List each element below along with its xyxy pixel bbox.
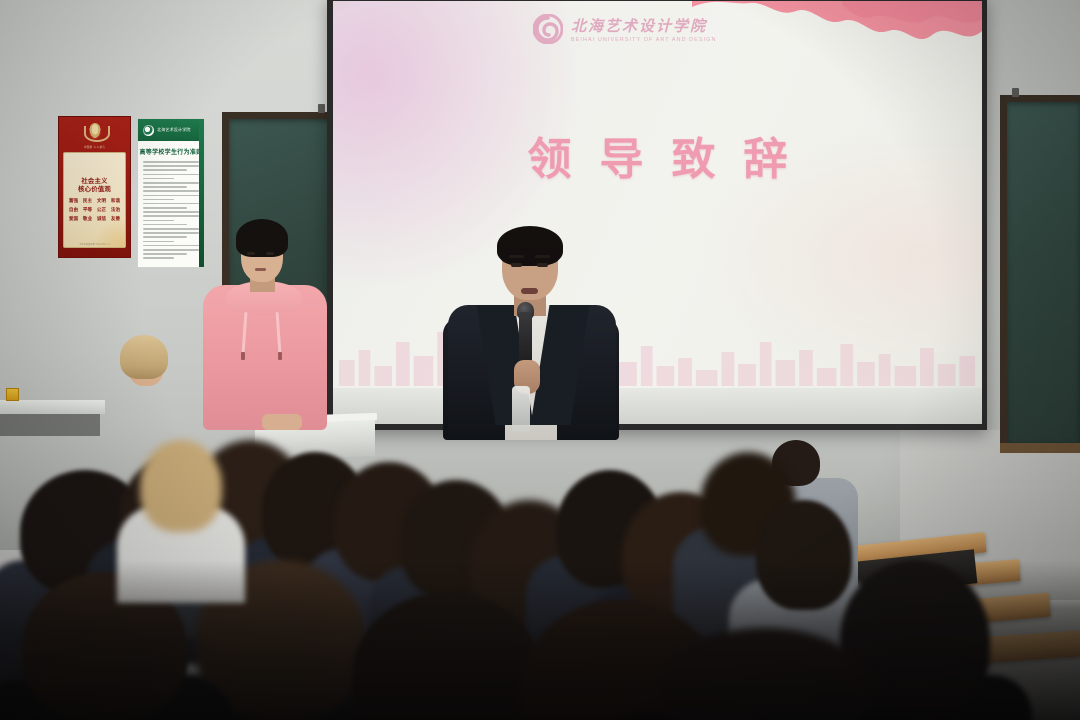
pink-hoodie-hair: [236, 219, 288, 257]
mouth: [521, 288, 538, 294]
yellow-notice-sign: [6, 388, 19, 401]
hand: [262, 414, 302, 430]
poster-value: 诚信: [96, 216, 108, 222]
poster-value: 自由: [68, 207, 80, 213]
eye: [266, 252, 274, 255]
slide-school-logo: 北海艺术设计学院 BEIHAI UNIVERSITY OF ART AND DE…: [533, 9, 803, 49]
poster-header: 北海艺术设计学院: [138, 119, 204, 141]
eye: [247, 252, 255, 255]
mouth: [255, 268, 266, 271]
poster-value: 公正: [96, 207, 108, 213]
projection-screen: 北海艺术设计学院 BEIHAI UNIVERSITY OF ART AND DE…: [333, 1, 982, 424]
drawstring-tip: [278, 352, 282, 360]
slide-skyline-graphic: [333, 316, 982, 386]
poster-socialist-core-values: 中国梦 人人参与 社会主义 核心价值观 富强 民主 文明 和谐 自由 平等 公正…: [58, 116, 131, 258]
audience-head: [140, 440, 222, 532]
audience-head: [756, 500, 852, 610]
poster-values-row: 自由 平等 公正 法治: [68, 207, 122, 213]
slide-logo-chinese: 北海艺术设计学院: [571, 15, 716, 36]
speaker-hair: [497, 226, 563, 266]
blonde-student-hair: [120, 335, 168, 379]
eyebrow: [535, 255, 550, 258]
emblem-icon: [82, 123, 108, 145]
school-logo-icon: [143, 125, 154, 136]
poster-values-row: 富强 民主 文明 和谐: [68, 198, 122, 204]
poster-value: 民主: [82, 198, 94, 204]
chalkboard-right: [1000, 95, 1080, 450]
shelf-shadow: [0, 414, 100, 436]
poster-side-stripe: [199, 119, 204, 267]
chalkboard-tray: [1000, 443, 1080, 453]
swirl-logo-mark-icon: [533, 14, 563, 44]
poster-value: 敬业: [82, 216, 94, 222]
poster-inner-card: 社会主义 核心价值观 富强 民主 文明 和谐 自由 平等 公正 法治 爱国 敬业: [63, 152, 126, 248]
poster-value: 法治: [110, 207, 122, 213]
board-clip-icon: [318, 104, 325, 113]
poster-value: 友善: [110, 216, 122, 222]
poster-value: 富强: [68, 198, 80, 204]
poster-title: 高等学校学生行为准则: [138, 147, 204, 156]
eye: [511, 263, 522, 267]
slide-bottom-band: [333, 388, 982, 424]
eyebrow: [509, 255, 524, 258]
poster-title-line2: 核心价值观: [78, 186, 111, 194]
poster-footer: 中共中央宣传部 中央文明办 制: [79, 243, 109, 246]
poster-subtitle: 中国梦 人人参与: [84, 146, 105, 149]
eye: [537, 263, 548, 267]
poster-value: 和谐: [110, 198, 122, 204]
poster-values-row: 爱国 敬业 诚信 友善: [68, 216, 122, 222]
poster-value: 文明: [96, 198, 108, 204]
board-clip-icon: [1012, 88, 1019, 97]
poster-value: 爱国: [68, 216, 80, 222]
water-bottle: [512, 386, 530, 432]
poster-value: 平等: [82, 207, 94, 213]
slide-logo-text: 北海艺术设计学院 BEIHAI UNIVERSITY OF ART AND DE…: [571, 15, 716, 43]
poster-student-code-of-conduct: 北海艺术设计学院 高等学校学生行为准则: [137, 118, 205, 268]
poster-logo-text: 北海艺术设计学院: [157, 127, 191, 133]
wall-shelf: [0, 400, 105, 414]
poster-values-grid: 富强 民主 文明 和谐 自由 平等 公正 法治 爱国 敬业 诚信 友善: [68, 198, 122, 222]
poster-body-text: [138, 156, 204, 259]
drawstring-tip: [241, 352, 245, 360]
slide-title: 领导致辞: [333, 123, 982, 187]
classroom-photo: 中国梦 人人参与 社会主义 核心价值观 富强 民主 文明 和谐 自由 平等 公正…: [0, 0, 1080, 720]
projection-screen-frame: 北海艺术设计学院 BEIHAI UNIVERSITY OF ART AND DE…: [327, 0, 987, 430]
slide-logo-english: BEIHAI UNIVERSITY OF ART AND DESIGN: [571, 37, 716, 43]
